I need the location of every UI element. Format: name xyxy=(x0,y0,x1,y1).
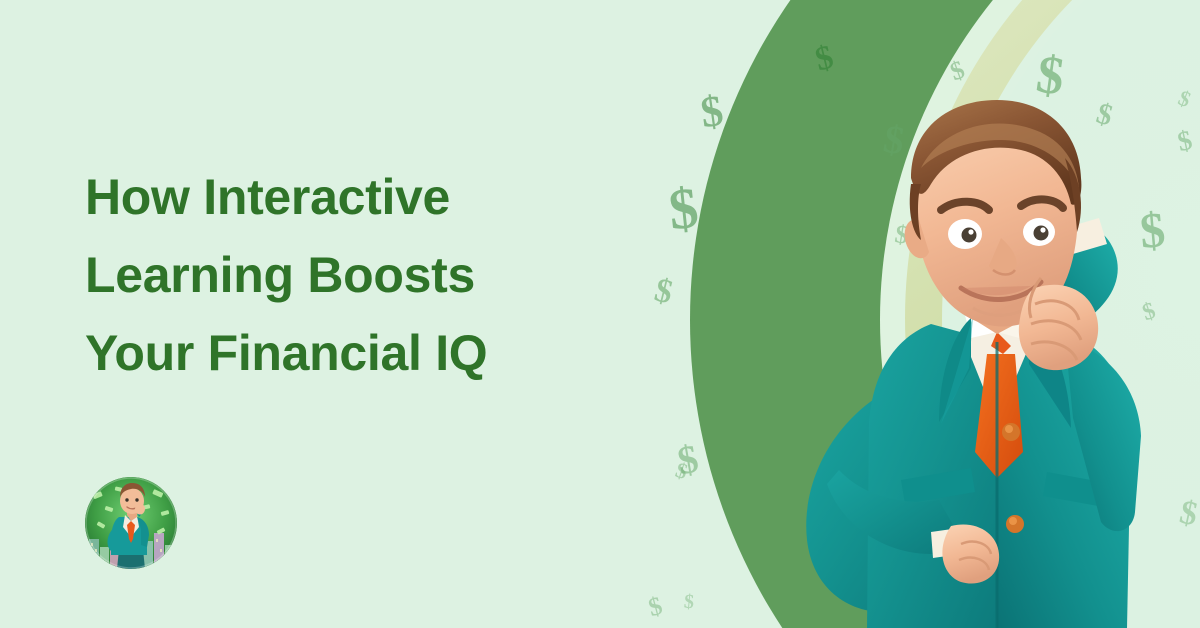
dollar-sign-icon: $ xyxy=(698,89,726,136)
page-title-line-1: How Interactive xyxy=(85,158,645,236)
social-share-banner: $$$$$$$$$$$$$$$$$$ How InteractiveLearni… xyxy=(0,0,1200,628)
dollar-sign-icon: $ xyxy=(666,179,701,240)
dollar-sign-icon: $ xyxy=(947,57,968,86)
businessman-illustration xyxy=(735,92,1200,628)
dollar-sign-icon: $ xyxy=(651,273,676,310)
page-title: How InteractiveLearning BoostsYour Finan… xyxy=(85,158,645,392)
brand-avatar[interactable] xyxy=(85,477,177,569)
page-title-line-2: Learning Boosts xyxy=(85,236,645,314)
dollar-sign-icon: $ xyxy=(683,592,695,613)
dollar-sign-icon: $ xyxy=(646,593,665,621)
page-title-line-3: Your Financial IQ xyxy=(85,314,645,392)
dollar-sign-icon: $ xyxy=(812,40,837,77)
